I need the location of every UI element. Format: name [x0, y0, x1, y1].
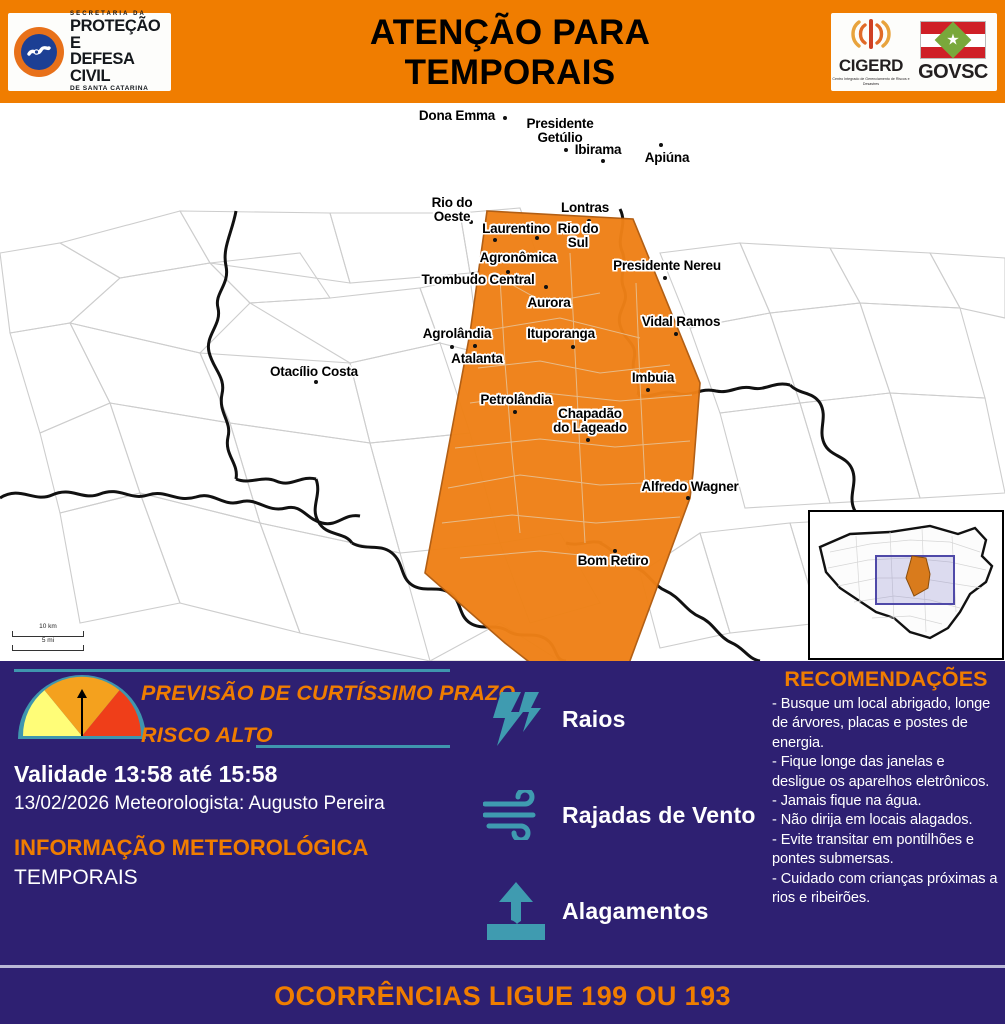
- scale-km-label: 10 km: [12, 623, 84, 631]
- gauge-pointer-arrow: [81, 696, 83, 736]
- map-scale-bar: 10 km 5 mi: [12, 623, 84, 651]
- recommendation-item: - Fique longe das janelas e desligue os …: [772, 753, 1000, 792]
- city-dot: [535, 236, 539, 240]
- cigerd-name: CIGERD: [831, 56, 911, 76]
- city-dot: [450, 345, 454, 349]
- hazard-label: Raios: [562, 706, 626, 733]
- divider-under-risk: [256, 745, 450, 748]
- hazard-item-vento: Rajadas de Vento: [470, 767, 770, 863]
- divider-top: [14, 669, 450, 672]
- info-panel: PREVISÃO DE CURTÍSSIMO PRAZO RISCO ALTO …: [0, 661, 1005, 965]
- met-info-heading: INFORMAÇÃO METEOROLÓGICA: [14, 835, 368, 861]
- title-line-1: ATENÇÃO PARA: [370, 13, 650, 53]
- risk-gauge: [18, 675, 146, 741]
- logo-line-estado: DE SANTA CATARINA: [70, 86, 171, 93]
- scale-mi-label: 5 mi: [12, 637, 84, 645]
- partner-logos: CIGERD Centro Integrado de Gerenciamento…: [831, 13, 997, 91]
- title-line-2: TEMPORAIS: [405, 53, 616, 93]
- city-dot: [571, 345, 575, 349]
- emergency-footer: OCORRÊNCIAS LIGUE 199 OU 193: [0, 965, 1005, 1024]
- recommendation-item: - Cuidado com crianças próximas a rios e…: [772, 870, 1000, 909]
- risk-level-label: RISCO ALTO: [141, 723, 273, 748]
- city-dot: [659, 143, 663, 147]
- lightning-bolt-icon: [470, 688, 562, 750]
- hazard-list: Raios Rajadas de Vento: [470, 671, 770, 959]
- cigerd-logo: CIGERD Centro Integrado de Gerenciamento…: [831, 17, 911, 87]
- city-dot: [471, 272, 475, 276]
- hazard-label: Alagamentos: [562, 898, 709, 925]
- recommendations-block: RECOMENDAÇÕES - Busque um local abrigado…: [772, 667, 1000, 908]
- city-dot: [503, 116, 507, 120]
- validity-text: Validade 13:58 até 15:58: [14, 761, 277, 788]
- logo-line-protecao: PROTEÇÃO E: [70, 18, 171, 51]
- emergency-phone-text: OCORRÊNCIAS LIGUE 199 OU 193: [274, 981, 731, 1012]
- wind-gust-icon: [470, 790, 562, 840]
- city-dot: [686, 496, 690, 500]
- santa-catarina-flag-icon: ★: [920, 21, 986, 59]
- forecast-label: PREVISÃO DE CURTÍSSIMO PRAZO: [141, 681, 515, 706]
- alert-map[interactable]: Dona EmmaPresidente GetúlioIbiramaApiúna…: [0, 103, 1005, 661]
- civil-defense-logo: SECRETARIA DA PROTEÇÃO E DEFESA CIVIL DE…: [8, 13, 171, 91]
- gov-prefix: GOV: [918, 61, 961, 83]
- city-dot: [601, 159, 605, 163]
- hazard-item-raios: Raios: [470, 671, 770, 767]
- city-dot: [564, 148, 568, 152]
- recommendation-item: - Não dirija em locais alagados.: [772, 811, 1000, 830]
- flood-rising-water-icon: [470, 880, 562, 942]
- govsc-logo: ★ GOVSC: [911, 21, 995, 84]
- city-dot: [587, 219, 591, 223]
- civil-defense-emblem-icon: [14, 27, 64, 77]
- city-dot: [646, 388, 650, 392]
- alert-poster: SECRETARIA DA PROTEÇÃO E DEFESA CIVIL DE…: [0, 0, 1005, 1024]
- city-dot: [544, 285, 548, 289]
- city-dot: [613, 549, 617, 553]
- govsc-wordmark: GOVSC: [911, 61, 995, 84]
- city-dot: [473, 344, 477, 348]
- city-dot: [663, 276, 667, 280]
- met-info-body: TEMPORAIS: [14, 866, 138, 890]
- hazard-item-alagamentos: Alagamentos: [470, 863, 770, 959]
- recommendation-item: - Busque um local abrigado, longe de árv…: [772, 695, 1000, 753]
- recommendations-heading: RECOMENDAÇÕES: [772, 667, 1000, 692]
- page-title: ATENÇÃO PARA TEMPORAIS: [200, 10, 820, 95]
- recommendation-item: - Jamais fique na água.: [772, 792, 1000, 811]
- city-dot: [586, 438, 590, 442]
- city-dot: [674, 332, 678, 336]
- state-overview-inset[interactable]: [808, 510, 1004, 660]
- header-bar: SECRETARIA DA PROTEÇÃO E DEFESA CIVIL DE…: [0, 0, 1005, 103]
- hazard-label: Rajadas de Vento: [562, 802, 756, 829]
- city-dot: [506, 270, 510, 274]
- logo-line-defesa: DEFESA CIVIL: [70, 51, 171, 84]
- city-dot: [493, 238, 497, 242]
- gov-suffix: SC: [961, 61, 988, 83]
- recommendation-item: - Evite transitar em pontilhões e pontes…: [772, 831, 1000, 870]
- cigerd-subtitle: Centro Integrado de Gerenciamento de Ris…: [831, 77, 911, 87]
- city-dot: [314, 380, 318, 384]
- meteorologist-text: 13/02/2026 Meteorologista: Augusto Perei…: [14, 793, 385, 815]
- city-dot: [513, 410, 517, 414]
- city-dot: [469, 220, 473, 224]
- cigerd-waves-icon: [845, 17, 897, 51]
